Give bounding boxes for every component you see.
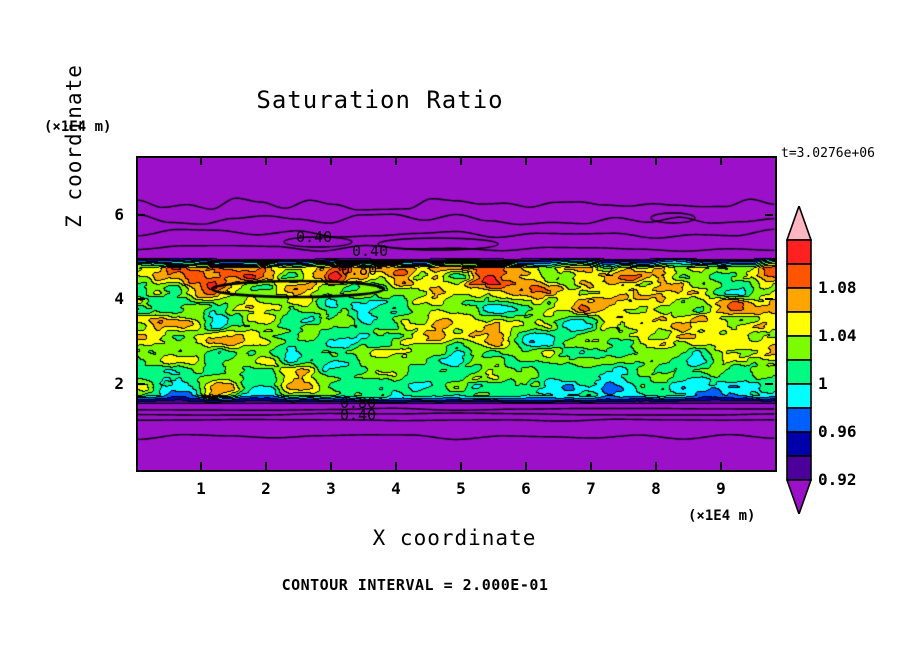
x-tick-mark (525, 462, 527, 470)
x-tick-label: 2 (251, 479, 281, 498)
x-tick-label: 5 (446, 479, 476, 498)
colorbar-over-arrow (787, 206, 811, 240)
x-tick-mark (330, 462, 332, 470)
x-tick-label: 9 (706, 479, 736, 498)
colorbar-band (787, 312, 811, 336)
x-axis-title: X coordinate (136, 526, 773, 550)
y-tick-label: 4 (100, 289, 124, 308)
x-tick-label: 1 (186, 479, 216, 498)
x-tick-label: 8 (641, 479, 671, 498)
y-tick-mark (765, 298, 773, 300)
colorbar-tick-label: 0.92 (818, 470, 857, 489)
contour-level-label: 0.40 (296, 230, 332, 245)
contour-level-label: 0.40 (340, 408, 376, 423)
x-tick-label: 6 (511, 479, 541, 498)
x-tick-mark (395, 157, 397, 165)
x-tick-mark (720, 157, 722, 165)
y-tick-mark (137, 214, 145, 216)
contour-interval-caption: CONTOUR INTERVAL = 2.000E-01 (0, 576, 830, 594)
x-tick-mark (590, 462, 592, 470)
x-tick-mark (200, 157, 202, 165)
colorbar-under-arrow (787, 480, 811, 514)
time-annotation: t=3.0276e+06 (781, 146, 875, 161)
page-title: Saturation Ratio (0, 86, 760, 114)
colorbar-band (787, 288, 811, 312)
x-tick-mark (460, 157, 462, 165)
plot-area[interactable] (136, 156, 777, 472)
contour-field-canvas (138, 158, 775, 470)
x-axis-units-label: (×1E4 m) (688, 508, 755, 524)
x-tick-label: 7 (576, 479, 606, 498)
y-tick-label: 6 (100, 205, 124, 224)
colorbar-band (787, 432, 811, 456)
y-tick-mark (137, 298, 145, 300)
x-tick-mark (330, 157, 332, 165)
colorbar-band (787, 336, 811, 360)
x-tick-mark (655, 462, 657, 470)
colorbar[interactable] (786, 206, 812, 514)
x-tick-mark (460, 462, 462, 470)
y-tick-label: 2 (100, 374, 124, 393)
y-tick-mark (765, 214, 773, 216)
colorbar-band (787, 360, 811, 384)
colorbar-swatches (786, 206, 812, 514)
x-tick-mark (395, 462, 397, 470)
x-tick-mark (200, 462, 202, 470)
colorbar-tick-label: 1.04 (818, 326, 857, 345)
x-tick-mark (265, 462, 267, 470)
x-tick-mark (720, 462, 722, 470)
colorbar-band (787, 408, 811, 432)
colorbar-tick-label: 0.96 (818, 422, 857, 441)
colorbar-tick-label: 1 (818, 374, 828, 393)
colorbar-band (787, 384, 811, 408)
contour-level-label: 2 (605, 264, 614, 279)
colorbar-band (787, 456, 811, 480)
x-tick-mark (265, 157, 267, 165)
x-tick-label: 4 (381, 479, 411, 498)
contour-level-label: 0.80 (341, 263, 377, 278)
y-axis-title: Z coordinate (62, 46, 86, 246)
x-tick-mark (655, 157, 657, 165)
y-tick-mark (137, 383, 145, 385)
contour-level-label: 0.40 (352, 244, 388, 259)
y-tick-mark (765, 383, 773, 385)
colorbar-band (787, 264, 811, 288)
colorbar-band (787, 240, 811, 264)
colorbar-tick-label: 1.08 (818, 278, 857, 297)
x-tick-mark (590, 157, 592, 165)
x-tick-mark (525, 157, 527, 165)
x-tick-label: 3 (316, 479, 346, 498)
contour-figure: Saturation Ratio (×1E4 m) t=3.0276e+06 Z… (0, 0, 904, 654)
